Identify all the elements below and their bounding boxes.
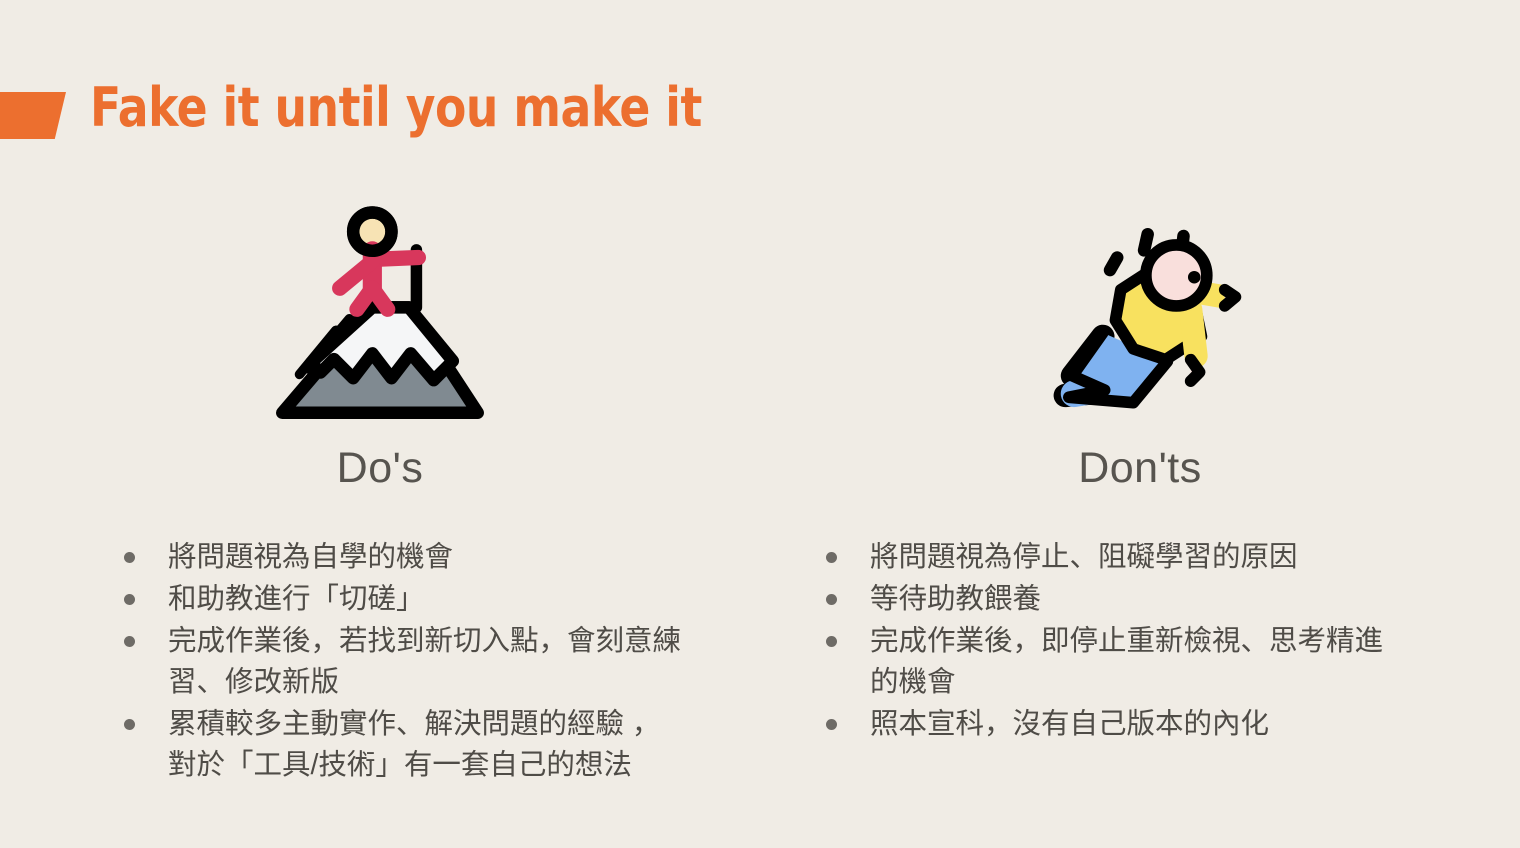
list-item-label: 等待助教餵養	[870, 579, 1041, 620]
list-item-label: 將問題視為停止、阻礙學習的原因	[870, 537, 1298, 578]
bullet-dot-icon	[124, 594, 135, 605]
bullet-dot-icon	[826, 719, 837, 730]
list-item-label: 照本宣科，沒有自己版本的內化	[870, 704, 1269, 745]
bullet-dot-icon	[124, 552, 135, 563]
column-heading-dos: Do's	[0, 444, 760, 493]
bullet-list-dos: 將問題視為自學的機會 和助教進行「切磋」 完成作業後，若找到新切入點，會刻意練習…	[0, 537, 760, 786]
list-item: 將問題視為自學的機會	[124, 537, 760, 578]
list-item: 完成作業後，若找到新切入點，會刻意練習、修改新版	[124, 621, 760, 703]
column-heading-donts: Don'ts	[760, 444, 1520, 493]
bullet-dot-icon	[826, 552, 837, 563]
kneeling-person-icon	[1033, 180, 1248, 430]
list-item: 和助教進行「切磋」	[124, 579, 760, 620]
column-dos: Do's 將問題視為自學的機會 和助教進行「切磋」 完成作業後，若找到新切入點，…	[0, 180, 760, 820]
mountain-climber-icon	[265, 200, 495, 430]
list-item-label: 累積較多主動實作、解決問題的經驗 ，對於「工具/技術」有一套自己的想法	[168, 704, 688, 786]
list-item: 將問題視為停止、阻礙學習的原因	[826, 537, 1520, 578]
bullet-dot-icon	[124, 636, 135, 647]
list-item-label: 完成作業後，即停止重新檢視、思考精進的機會	[870, 621, 1390, 703]
list-item-label: 完成作業後，若找到新切入點，會刻意練習、修改新版	[168, 621, 688, 703]
bullet-dot-icon	[124, 719, 135, 730]
title-accent-parallelogram	[0, 92, 66, 139]
bullet-dot-icon	[826, 636, 837, 647]
list-item-label: 將問題視為自學的機會	[168, 537, 453, 578]
column-donts: Don'ts 將問題視為停止、阻礙學習的原因 等待助教餵養 完成作業後，即停止重…	[760, 180, 1520, 820]
list-item: 照本宣科，沒有自己版本的內化	[826, 704, 1520, 745]
bullet-dot-icon	[826, 594, 837, 605]
list-item: 累積較多主動實作、解決問題的經驗 ，對於「工具/技術」有一套自己的想法	[124, 704, 760, 786]
slide-header: Fake it until you make it	[0, 86, 1520, 156]
list-item: 等待助教餵養	[826, 579, 1520, 620]
list-item: 完成作業後，即停止重新檢視、思考精進的機會	[826, 621, 1520, 703]
list-item-label: 和助教進行「切磋」	[168, 579, 425, 620]
page-title: Fake it until you make it	[90, 76, 702, 139]
bullet-list-donts: 將問題視為停止、阻礙學習的原因 等待助教餵養 完成作業後，即停止重新檢視、思考精…	[760, 537, 1520, 745]
illustration-dos	[0, 180, 760, 430]
eye-dot-icon	[1187, 271, 1200, 284]
illustration-donts	[760, 180, 1520, 430]
comparison-columns: Do's 將問題視為自學的機會 和助教進行「切磋」 完成作業後，若找到新切入點，…	[0, 180, 1520, 820]
